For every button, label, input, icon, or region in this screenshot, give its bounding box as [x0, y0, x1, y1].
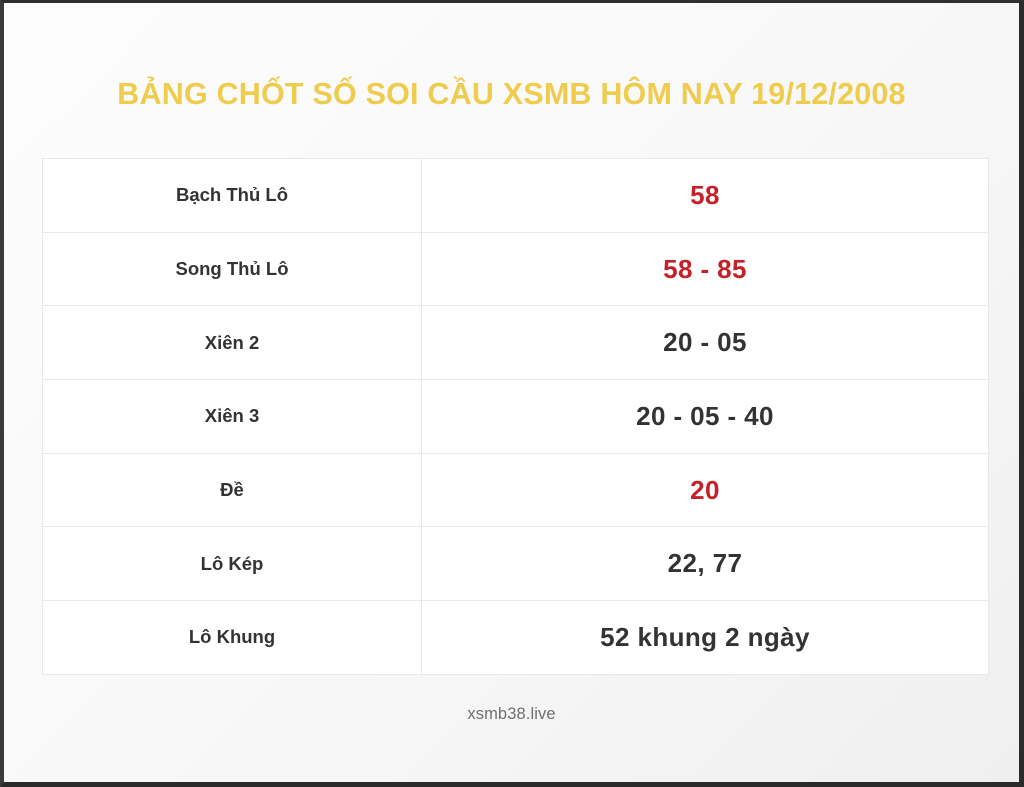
table-row: Bạch Thủ Lô 58	[43, 159, 989, 233]
page-title: BẢNG CHỐT SỐ SOI CẦU XSMB HÔM NAY 19/12/…	[4, 77, 1019, 112]
table-row: Lô Khung 52 khung 2 ngày	[43, 601, 989, 675]
row-label-xien-2: Xiên 2	[43, 306, 422, 380]
row-label-lo-khung: Lô Khung	[43, 601, 422, 675]
table-row: Song Thủ Lô 58 - 85	[43, 232, 989, 306]
row-label-de: Đề	[43, 453, 422, 527]
content-area: BẢNG CHỐT SỐ SOI CẦU XSMB HÔM NAY 19/12/…	[4, 3, 1019, 782]
row-value-xien-3: 20 - 05 - 40	[422, 380, 989, 454]
table-row: Đề 20	[43, 453, 989, 527]
row-value-bach-thu-lo: 58	[422, 159, 989, 233]
site-watermark: xsmb38.live	[4, 705, 1019, 724]
row-value-song-thu-lo: 58 - 85	[422, 232, 989, 306]
table-row: Xiên 3 20 - 05 - 40	[43, 380, 989, 454]
table-row: Xiên 2 20 - 05	[43, 306, 989, 380]
row-label-bach-thu-lo: Bạch Thủ Lô	[43, 159, 422, 233]
screenshot-frame: BẢNG CHỐT SỐ SOI CẦU XSMB HÔM NAY 19/12/…	[0, 0, 1024, 787]
row-label-lo-kep: Lô Kép	[43, 527, 422, 601]
row-label-xien-3: Xiên 3	[43, 380, 422, 454]
prediction-table: Bạch Thủ Lô 58 Song Thủ Lô 58 - 85 Xiên …	[42, 158, 989, 675]
row-value-lo-kep: 22, 77	[422, 527, 989, 601]
table-body: Bạch Thủ Lô 58 Song Thủ Lô 58 - 85 Xiên …	[43, 159, 989, 675]
table-row: Lô Kép 22, 77	[43, 527, 989, 601]
row-value-de: 20	[422, 453, 989, 527]
row-label-song-thu-lo: Song Thủ Lô	[43, 232, 422, 306]
row-value-xien-2: 20 - 05	[422, 306, 989, 380]
row-value-lo-khung: 52 khung 2 ngày	[422, 601, 989, 675]
